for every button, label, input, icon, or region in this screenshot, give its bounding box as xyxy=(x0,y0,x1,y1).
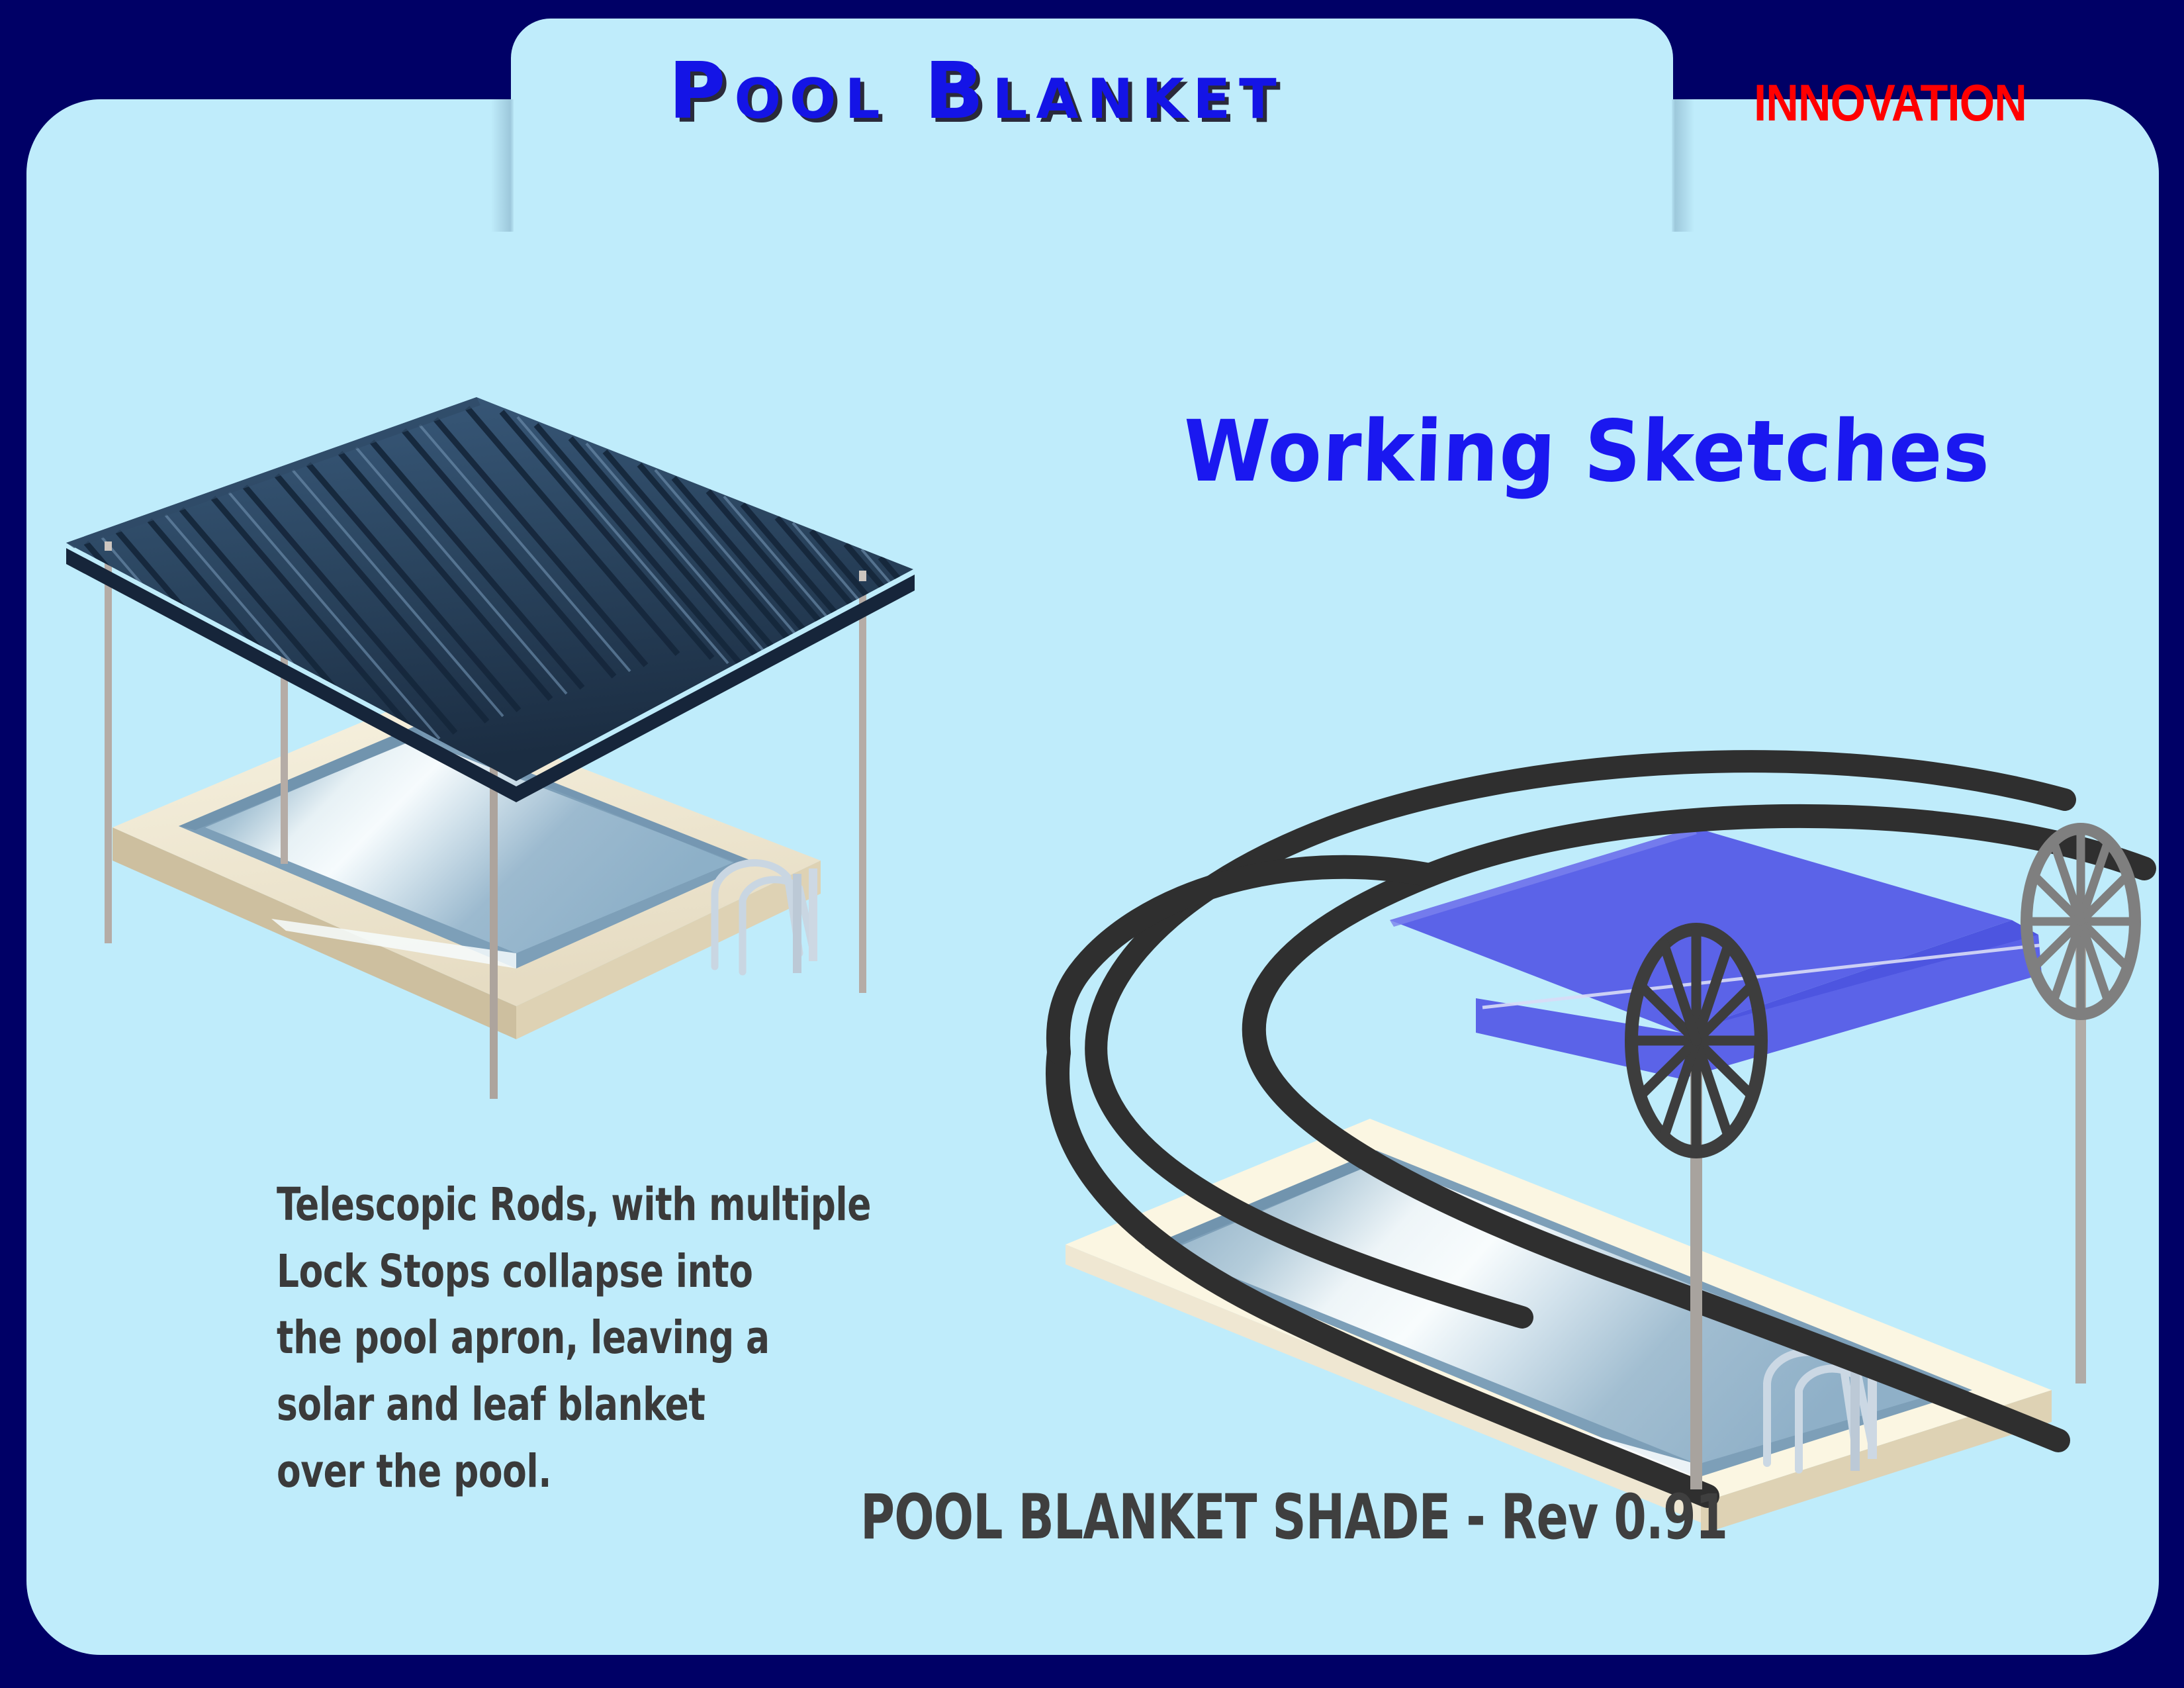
description-line-1: Telescopic Rods, with multiple xyxy=(277,1172,880,1239)
solar-blanket xyxy=(66,397,1091,804)
working-sketches-heading: Working Sketches xyxy=(1181,402,1992,501)
figure-caption: POOL BLANKET SHADE - Rev 0.91 xyxy=(860,1481,1727,1554)
innovation-badge: INNOVATION xyxy=(1754,73,2026,133)
description-line-3: the pool apron, leaving a xyxy=(277,1305,880,1372)
reel-wheel-near xyxy=(1631,929,1761,1152)
reel-wheel-far xyxy=(2026,829,2135,1014)
slide-frame: Pool Blanket INNOVATION Working Sketches xyxy=(0,0,2184,1688)
description-line-5: over the pool. xyxy=(277,1438,880,1505)
description-text-block: Telescopic Rods, with multiple Lock Stop… xyxy=(277,1172,880,1505)
figure-pool-with-shade-sail xyxy=(1019,722,2171,1489)
page-title: Pool Blanket xyxy=(668,52,1542,130)
description-line-2: Lock Stops collapse into xyxy=(277,1239,880,1305)
figure-pool-with-raised-blanket xyxy=(53,371,1085,1112)
description-line-4: solar and leaf blanket xyxy=(277,1372,880,1438)
